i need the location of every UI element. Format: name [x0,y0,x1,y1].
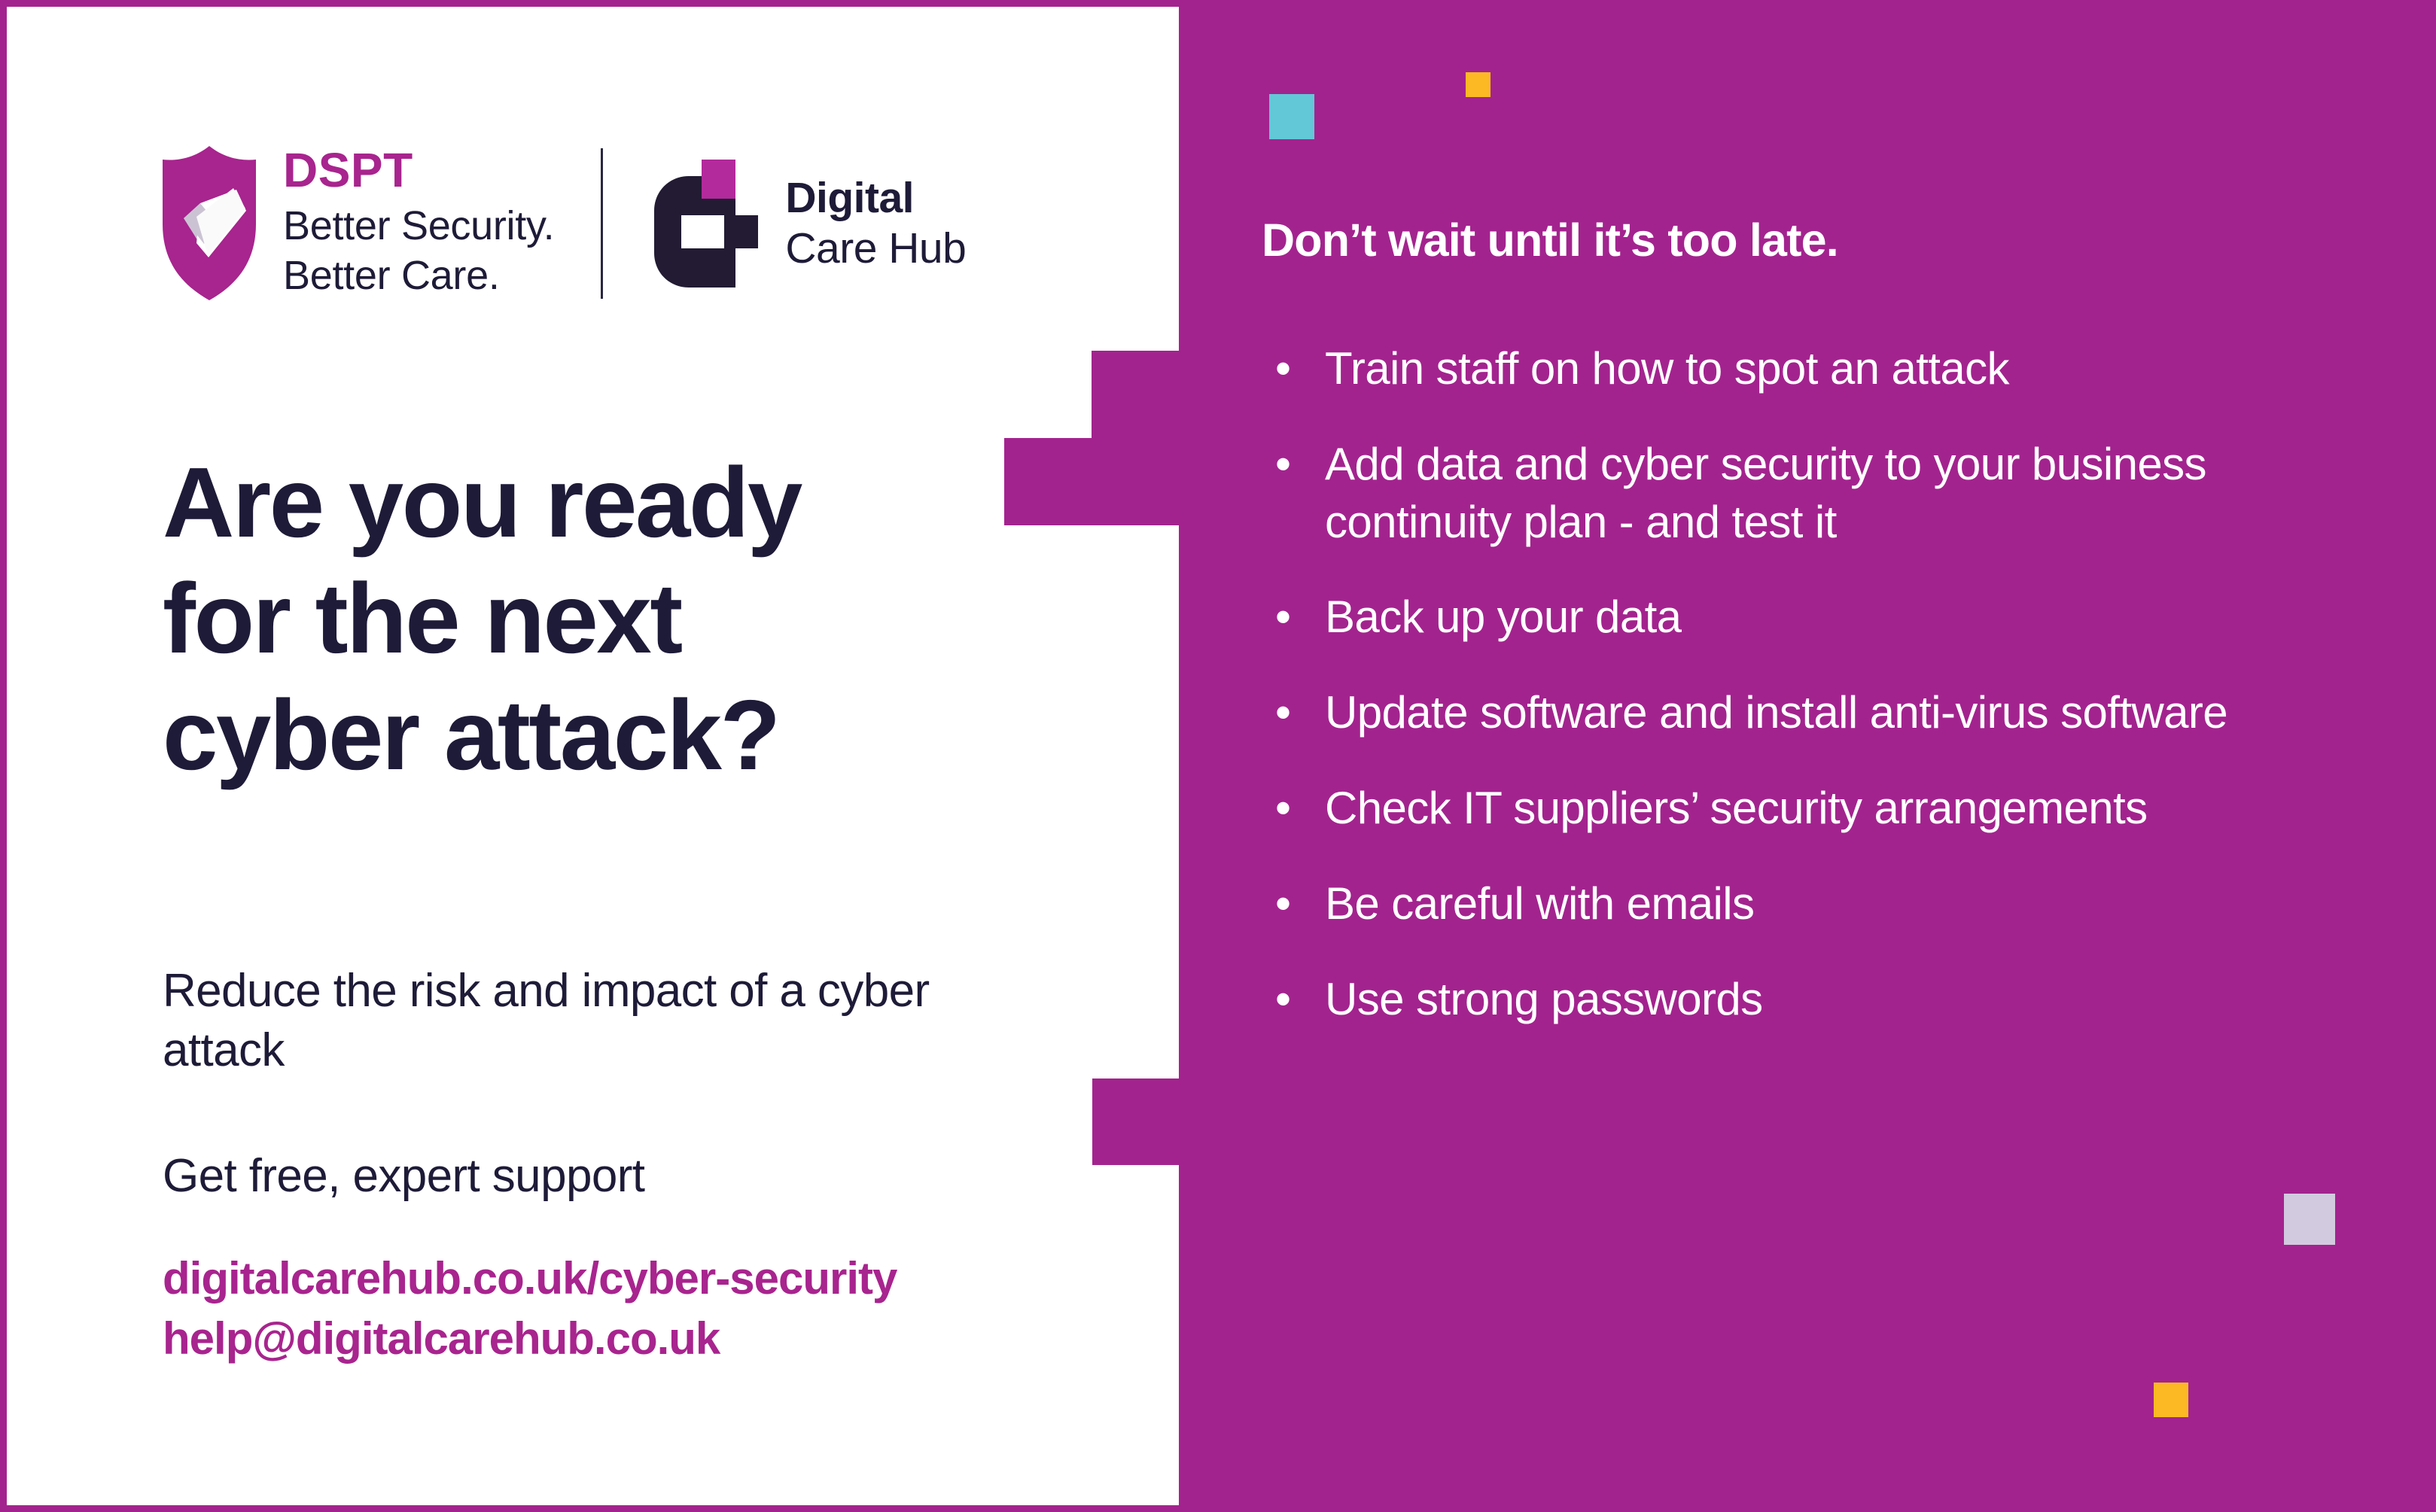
right-panel-heading: Don’t wait until it’s too late. [1262,214,2316,266]
website-link[interactable]: digitalcarehub.co.uk/cyber-security [163,1249,1141,1309]
magenta-edge-block-lower [1092,1078,1180,1165]
left-white-panel: DSPT Better Security. Better Care. [7,7,1179,1505]
poster-canvas: DSPT Better Security. Better Care. [0,0,2436,1512]
support-text: Get free, expert support [163,1149,991,1203]
list-item: Train staff on how to spot an attack [1262,340,2346,398]
headline-line-1: Are you ready [163,445,1006,561]
magenta-edge-block-upper-large [1092,351,1180,525]
subcopy-text: Reduce the risk and impact of a cyber at… [163,961,991,1081]
dch-name-line2: Care Hub [785,227,966,270]
digital-care-hub-wordmark: Digital Care Hub [785,177,966,270]
list-item: Add data and cyber security to your busi… [1262,436,2346,552]
headline-line-3: cyber attack? [163,677,1006,793]
amber-square-bottom-icon [2154,1383,2188,1417]
contact-block: digitalcarehub.co.uk/cyber-security help… [163,1249,1141,1369]
dspt-tagline-line2: Better Care. [283,251,554,301]
logo-lockup: DSPT Better Security. Better Care. [161,146,966,301]
dspt-logo: DSPT Better Security. Better Care. [161,146,554,301]
cyan-square-icon [1269,94,1314,139]
logo-separator-divider [601,148,603,299]
email-link[interactable]: help@digitalcarehub.co.uk [163,1309,1141,1369]
dspt-tagline-line1: Better Security. [283,202,554,251]
dspt-name: DSPT [283,146,554,194]
magenta-edge-block-upper-small [1004,438,1092,525]
dspt-wordmark: DSPT Better Security. Better Care. [283,146,554,301]
shield-check-icon [161,146,257,300]
list-item: Check IT suppliers’ security arrangement… [1262,780,2346,838]
digital-care-hub-logo: Digital Care Hub [645,160,966,287]
list-item: Use strong passwords [1262,971,2346,1029]
dch-name-line1: Digital [785,177,966,220]
digital-care-hub-c-icon [645,160,758,287]
list-item: Back up your data [1262,589,2346,646]
tips-bullet-list: Train staff on how to spot an attack Add… [1262,340,2346,1066]
amber-square-top-icon [1466,72,1491,97]
list-item: Be careful with emails [1262,875,2346,933]
headline-line-2: for the next [163,561,1006,677]
list-item: Update software and install anti-virus s… [1262,684,2346,742]
headline: Are you ready for the next cyber attack? [163,445,1006,793]
lilac-square-icon [2284,1194,2335,1245]
